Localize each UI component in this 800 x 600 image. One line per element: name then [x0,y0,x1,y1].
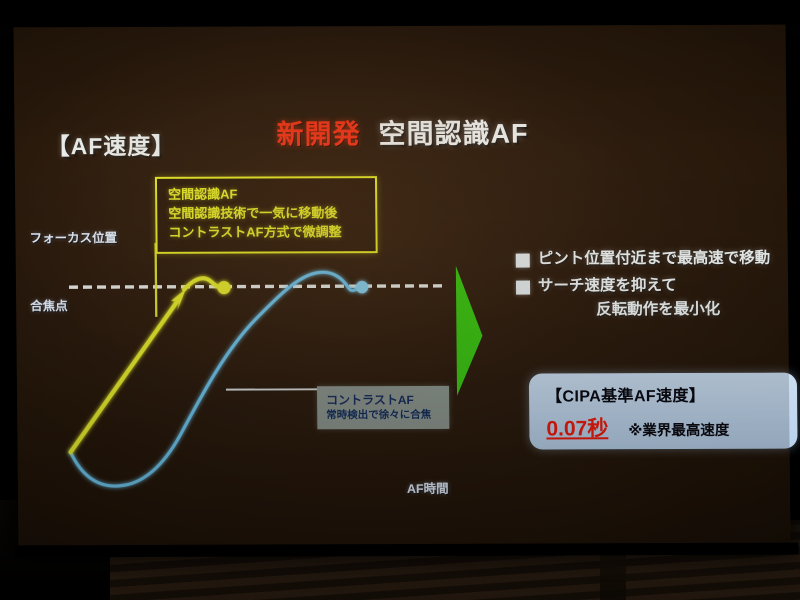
green-arrow-icon [456,266,483,396]
benefit-bullet-text-2-line2: 反転動作を最小化 [538,300,720,321]
spatial-af-leader-line [156,243,157,317]
cipa-spec-panel: 【CIPA基準AF速度】 0.07秒 ※業界最高速度 [529,373,798,450]
cipa-panel-row: 0.07秒 ※業界最高速度 [546,412,783,443]
contrast-af-callout-subtitle: 常時検出で徐々に合焦 [326,408,441,423]
square-bullet-icon [516,254,530,268]
spatial-af-callout-box: 空間認識AF 空間認識技術で一気に移動後 コントラストAF方式で微調整 [155,176,378,253]
focus-point-label: 合焦点 [30,295,68,314]
spatial-af-callout-line-1: 空間認識AF [168,185,365,205]
benefit-bullet-text-1: ピント位置付近まで最高速で移動 [538,249,771,270]
cipa-af-speed-value: 0.07秒 [546,412,608,442]
benefit-bullet-text-2: サーチ速度を抑えて 反転動作を最小化 [538,276,720,321]
presentation-photo: 新開発 空間認識AF 【AF速度】 [0,0,800,600]
focus-point-dashed-line [69,286,446,287]
contrast-af-curve [69,272,370,486]
contrast-af-callout-title: コントラストAF [326,392,441,409]
benefit-bullet-list: ピント位置付近まで最高速で移動 サーチ速度を抑えて 反転動作を最小化 [516,249,800,328]
x-axis [71,451,458,452]
slide-content: 新開発 空間認識AF 【AF速度】 [13,25,790,548]
square-bullet-icon [516,281,530,295]
cipa-industry-note: ※業界最高速度 [628,419,729,440]
spatial-af-callout-line-3: コントラストAF方式で微調整 [168,223,365,243]
benefit-bullet-text-2-line1: サーチ速度を抑えて [538,277,677,294]
contrast-af-callout-box: コントラストAF 常時検出で徐々に合焦 [317,386,449,430]
y-axis-label: フォーカス位置 [29,227,117,246]
spatial-af-curve [69,278,232,452]
cipa-panel-title: 【CIPA基準AF速度】 [546,382,783,407]
projection-screen: 新開発 空間認識AF 【AF速度】 [13,25,790,548]
benefit-bullet-item-2: サーチ速度を抑えて 反転動作を最小化 [516,276,800,321]
y-axis [69,257,72,519]
benefit-bullet-item-1: ピント位置付近まで最高速で移動 [516,249,800,270]
x-axis-label: AF時間 [407,478,449,497]
spatial-af-callout-line-2: 空間認識技術で一気に移動後 [168,204,365,224]
